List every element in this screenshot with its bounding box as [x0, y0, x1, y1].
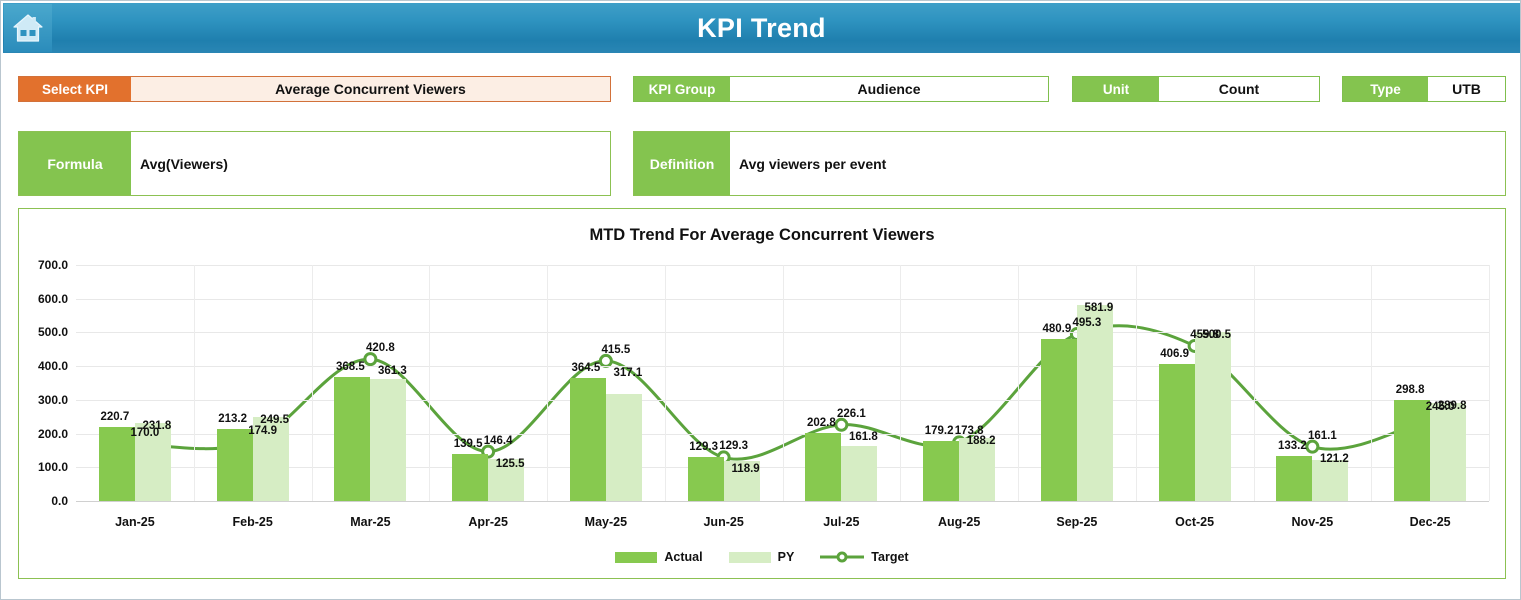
y-axis-tick-label: 200.0	[38, 427, 68, 441]
bar-py[interactable]	[1195, 332, 1231, 501]
data-label-actual: 133.2	[1278, 440, 1307, 452]
type-value: UTB	[1428, 77, 1505, 101]
data-label-actual: 480.9	[1042, 323, 1071, 335]
legend-swatch-py	[729, 552, 771, 563]
data-label-actual: 406.9	[1160, 348, 1189, 360]
select-kpi-field[interactable]: Select KPI Average Concurrent Viewers	[18, 76, 611, 102]
y-gridline	[76, 501, 1489, 502]
x-axis-tick-label: Jan-25	[115, 515, 155, 529]
data-label-py: 581.9	[1084, 302, 1113, 314]
legend-label-actual: Actual	[664, 550, 702, 564]
bar-actual[interactable]	[99, 427, 135, 501]
bar-actual[interactable]	[1394, 400, 1430, 501]
data-label-actual: 129.3	[689, 441, 718, 453]
kpi-group-value: Audience	[730, 77, 1048, 101]
y-axis-tick-label: 500.0	[38, 325, 68, 339]
category-separator	[547, 265, 548, 501]
x-axis-tick-label: Oct-25	[1175, 515, 1214, 529]
chart-panel: MTD Trend For Average Concurrent Viewers…	[18, 208, 1506, 579]
data-label-actual: 213.2	[218, 413, 247, 425]
legend-item-actual[interactable]: Actual	[615, 550, 702, 564]
bar-actual[interactable]	[452, 454, 488, 501]
data-label-actual: 179.2	[925, 425, 954, 437]
type-field: Type UTB	[1342, 76, 1506, 102]
kpi-group-label: KPI Group	[634, 77, 730, 101]
category-separator	[429, 265, 430, 501]
legend-item-target[interactable]: Target	[820, 550, 908, 564]
x-axis-tick-label: Apr-25	[468, 515, 508, 529]
category-separator	[665, 265, 666, 501]
bar-actual[interactable]	[1276, 456, 1312, 501]
x-axis-tick-label: Jul-25	[823, 515, 859, 529]
y-axis-tick-label: 300.0	[38, 393, 68, 407]
data-label-target: 129.3	[719, 440, 748, 452]
legend-label-py: PY	[778, 550, 795, 564]
category-separator	[1018, 265, 1019, 501]
y-axis-tick-label: 0.0	[51, 494, 68, 508]
page-title: KPI Trend	[3, 13, 1520, 44]
formula-value: Avg(Viewers)	[131, 132, 610, 195]
kpi-trend-page: KPI Trend Select KPI Average Concurrent …	[0, 0, 1521, 600]
app-header: KPI Trend	[3, 3, 1520, 53]
x-axis-tick-label: Nov-25	[1292, 515, 1334, 529]
bar-py[interactable]	[959, 438, 995, 501]
data-label-actual: 139.5	[454, 438, 483, 450]
y-axis-tick-label: 100.0	[38, 460, 68, 474]
y-axis-tick-label: 600.0	[38, 292, 68, 306]
category-separator	[1489, 265, 1490, 501]
legend-item-py[interactable]: PY	[729, 550, 795, 564]
data-label-py: 121.2	[1320, 453, 1349, 465]
x-axis-tick-label: Aug-25	[938, 515, 980, 529]
bar-py[interactable]	[606, 394, 642, 501]
data-label-target: 245.0	[1426, 401, 1455, 413]
x-axis-tick-label: Feb-25	[232, 515, 272, 529]
chart-legend: ActualPYTarget	[19, 550, 1505, 564]
y-axis-tick-label: 700.0	[38, 258, 68, 272]
bar-py[interactable]	[1077, 305, 1113, 501]
data-label-target: 459.8	[1190, 329, 1219, 341]
chart-plot-area: 0.0100.0200.0300.0400.0500.0600.0700.022…	[76, 265, 1489, 501]
data-label-target: 415.5	[601, 344, 630, 356]
x-axis-tick-label: Jun-25	[703, 515, 743, 529]
bar-actual[interactable]	[923, 441, 959, 501]
data-label-actual: 298.8	[1396, 384, 1425, 396]
x-axis-tick-label: Dec-25	[1410, 515, 1451, 529]
data-label-target: 174.9	[248, 425, 277, 437]
bar-py[interactable]	[1430, 403, 1466, 501]
category-separator	[194, 265, 195, 501]
select-kpi-value[interactable]: Average Concurrent Viewers	[131, 77, 610, 101]
bar-actual[interactable]	[570, 378, 606, 501]
definition-box: Definition Avg viewers per event	[633, 131, 1506, 196]
select-kpi-label: Select KPI	[19, 77, 131, 101]
data-label-target: 161.1	[1308, 430, 1337, 442]
data-label-actual: 368.5	[336, 361, 365, 373]
data-label-actual: 364.5	[571, 362, 600, 374]
data-label-target: 420.8	[366, 342, 395, 354]
data-label-target: 146.4	[484, 435, 513, 447]
x-axis-tick-label: May-25	[585, 515, 627, 529]
chart-title: MTD Trend For Average Concurrent Viewers	[19, 226, 1505, 245]
bar-actual[interactable]	[1041, 339, 1077, 501]
legend-swatch-actual	[615, 552, 657, 563]
category-separator	[1254, 265, 1255, 501]
x-axis-tick-label: Sep-25	[1056, 515, 1097, 529]
bar-actual[interactable]	[805, 433, 841, 501]
data-label-actual: 202.8	[807, 417, 836, 429]
x-axis-tick-label: Mar-25	[350, 515, 390, 529]
kpi-group-field: KPI Group Audience	[633, 76, 1049, 102]
type-label: Type	[1343, 77, 1428, 101]
bar-actual[interactable]	[1159, 364, 1195, 501]
category-separator	[900, 265, 901, 501]
data-label-target: 173.8	[955, 425, 984, 437]
bar-py[interactable]	[1312, 460, 1348, 501]
data-label-py: 161.8	[849, 431, 878, 443]
unit-value: Count	[1159, 77, 1319, 101]
bar-actual[interactable]	[217, 429, 253, 501]
data-label-target: 495.3	[1072, 317, 1101, 329]
unit-label: Unit	[1073, 77, 1159, 101]
data-label-target: 170.0	[130, 427, 159, 439]
category-separator	[783, 265, 784, 501]
category-separator	[1136, 265, 1137, 501]
category-separator	[312, 265, 313, 501]
data-label-py: 118.9	[732, 463, 760, 475]
legend-label-target: Target	[871, 550, 908, 564]
data-label-target: 226.1	[837, 408, 866, 420]
definition-label: Definition	[634, 132, 730, 195]
bar-py[interactable]	[841, 446, 877, 501]
formula-label: Formula	[19, 132, 131, 195]
data-label-py: 361.3	[378, 365, 407, 377]
bar-actual[interactable]	[688, 457, 724, 501]
data-label-py: 125.5	[496, 458, 525, 470]
definition-value: Avg viewers per event	[730, 132, 1505, 195]
y-axis-tick-label: 400.0	[38, 359, 68, 373]
category-separator	[1371, 265, 1372, 501]
data-label-py: 317.1	[613, 367, 642, 379]
bar-py[interactable]	[370, 379, 406, 501]
formula-box: Formula Avg(Viewers)	[18, 131, 611, 196]
unit-field: Unit Count	[1072, 76, 1320, 102]
bar-actual[interactable]	[334, 377, 370, 501]
data-label-actual: 220.7	[100, 411, 129, 423]
legend-swatch-target	[820, 551, 864, 563]
